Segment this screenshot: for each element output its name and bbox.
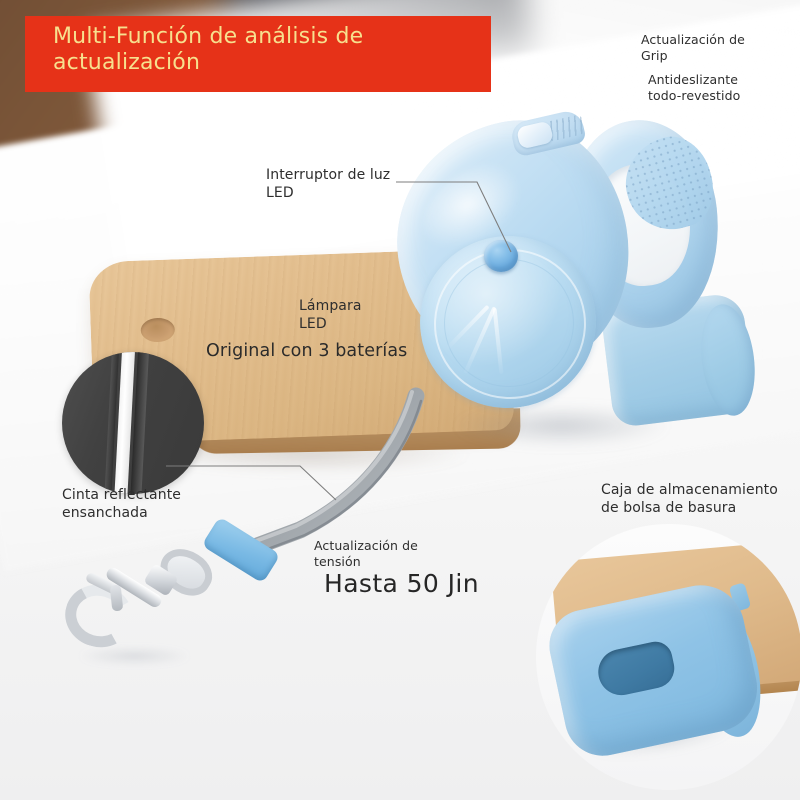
callout-led-lamp: Lámpara LED (299, 298, 362, 334)
callout-grip-title: Actualización de Grip (641, 32, 745, 64)
hook-tip (110, 584, 124, 611)
snap-hook (55, 533, 255, 653)
product-infographic: Multi-Función de análisis de actualizaci… (0, 0, 800, 800)
callout-grip-sub: Antideslizante todo-revestido (648, 72, 740, 104)
title-line-1: Multi-Función de análisis de (53, 24, 491, 50)
bag-dispenser-inset (536, 524, 800, 790)
callout-tension-value: Hasta 50 Jin (324, 568, 479, 600)
brake-button (484, 240, 518, 272)
callout-tension-title: Actualización de tensión (314, 538, 418, 570)
title-banner: Multi-Función de análisis de actualizaci… (25, 16, 491, 92)
title-line-2: actualización (53, 50, 491, 76)
callout-led-switch: Interruptor de luz LED (266, 167, 390, 203)
reflective-strip-inset (62, 352, 204, 494)
callout-batteries: Original con 3 baterías (206, 340, 407, 362)
retractable-leash (392, 108, 722, 453)
hook-shadow (67, 645, 217, 667)
callout-reflective-tape: Cinta reflectante ensanchada (62, 487, 181, 523)
callout-bag-box: Caja de almacenamiento de bolsa de basur… (601, 482, 778, 518)
board-hole (140, 317, 175, 342)
